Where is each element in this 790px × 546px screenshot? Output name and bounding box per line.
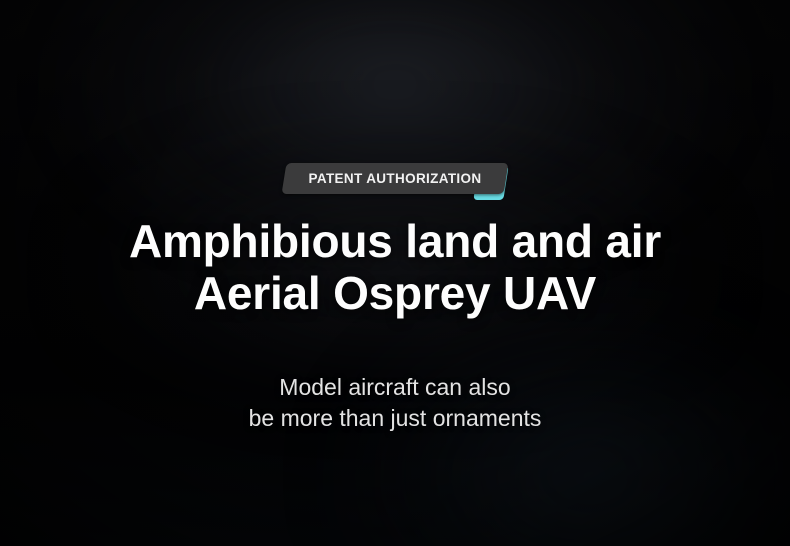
status-badge: PATENT AUTHORIZATION: [284, 163, 506, 194]
banner-content: PATENT AUTHORIZATION Amphibious land and…: [0, 0, 790, 546]
subtitle-line-1: Model aircraft can also: [249, 372, 542, 403]
subtitle-line-2: be more than just ornaments: [249, 403, 542, 434]
badge-container: PATENT AUTHORIZATION: [0, 163, 790, 203]
promo-banner: PATENT AUTHORIZATION Amphibious land and…: [0, 0, 790, 546]
page-title: Amphibious land and air Aerial Osprey UA…: [129, 215, 661, 319]
page-subtitle: Model aircraft can also be more than jus…: [249, 372, 542, 434]
headline-line-2: Aerial Osprey UAV: [129, 267, 661, 319]
badge-label: PATENT AUTHORIZATION: [284, 163, 506, 194]
headline-line-1: Amphibious land and air: [129, 215, 661, 267]
